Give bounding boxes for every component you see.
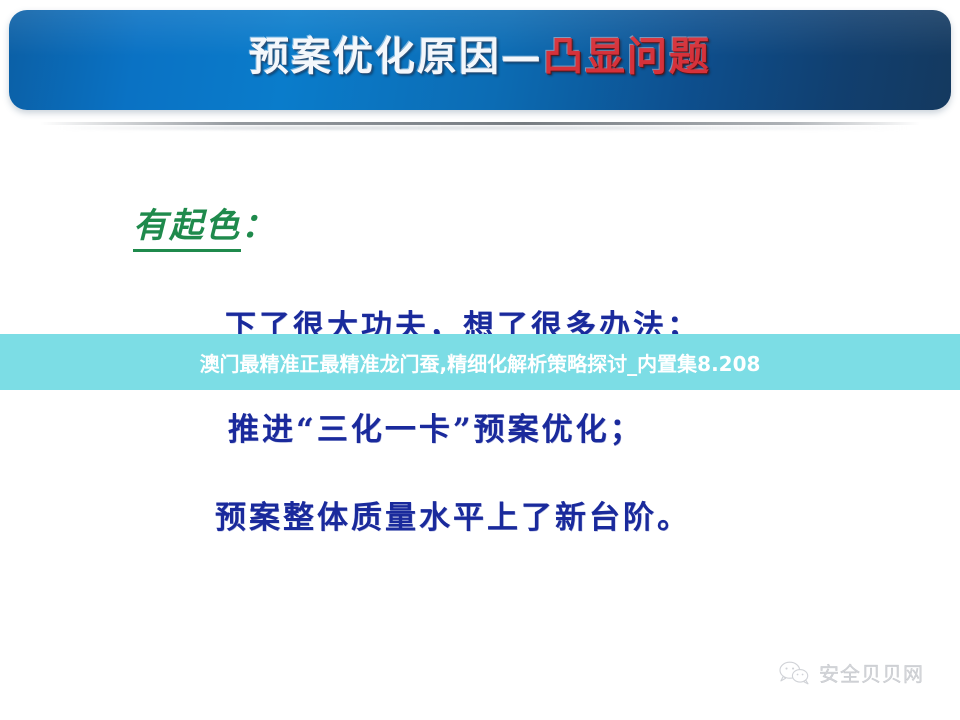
site-watermark: 安全贝贝网 <box>778 658 924 687</box>
section-subheading: 有起色： <box>133 198 277 247</box>
title-divider-shadow <box>56 126 908 130</box>
slide-canvas: 预案优化原因—凸显问题 有起色： 下了很大功夫，想了很多办法； 推进“三化一卡”… <box>0 0 960 720</box>
page-title: 预案优化原因—凸显问题 <box>9 30 951 84</box>
overlay-banner: 澳门最精准正最精准龙门蚕,精细化解析策略探讨_内置集8.208 <box>0 334 960 390</box>
section-subheading-label: 有起色 <box>133 206 241 252</box>
site-watermark-label: 安全贝贝网 <box>819 658 924 687</box>
body-line-2: 推进“三化一卡”预案优化； <box>228 404 644 449</box>
title-banner: 预案优化原因—凸显问题 <box>9 10 951 110</box>
overlay-banner-text: 澳门最精准正最精准龙门蚕,精细化解析策略探讨_内置集8.208 <box>0 348 960 377</box>
title-divider <box>40 122 920 125</box>
page-title-highlight: 凸显问题 <box>543 33 711 80</box>
body-line-3: 预案整体质量水平上了新台阶。 <box>215 492 691 537</box>
page-title-main: 预案优化原因— <box>249 33 543 80</box>
wechat-bubble-icon <box>778 659 810 687</box>
section-subheading-colon: ： <box>241 206 277 246</box>
